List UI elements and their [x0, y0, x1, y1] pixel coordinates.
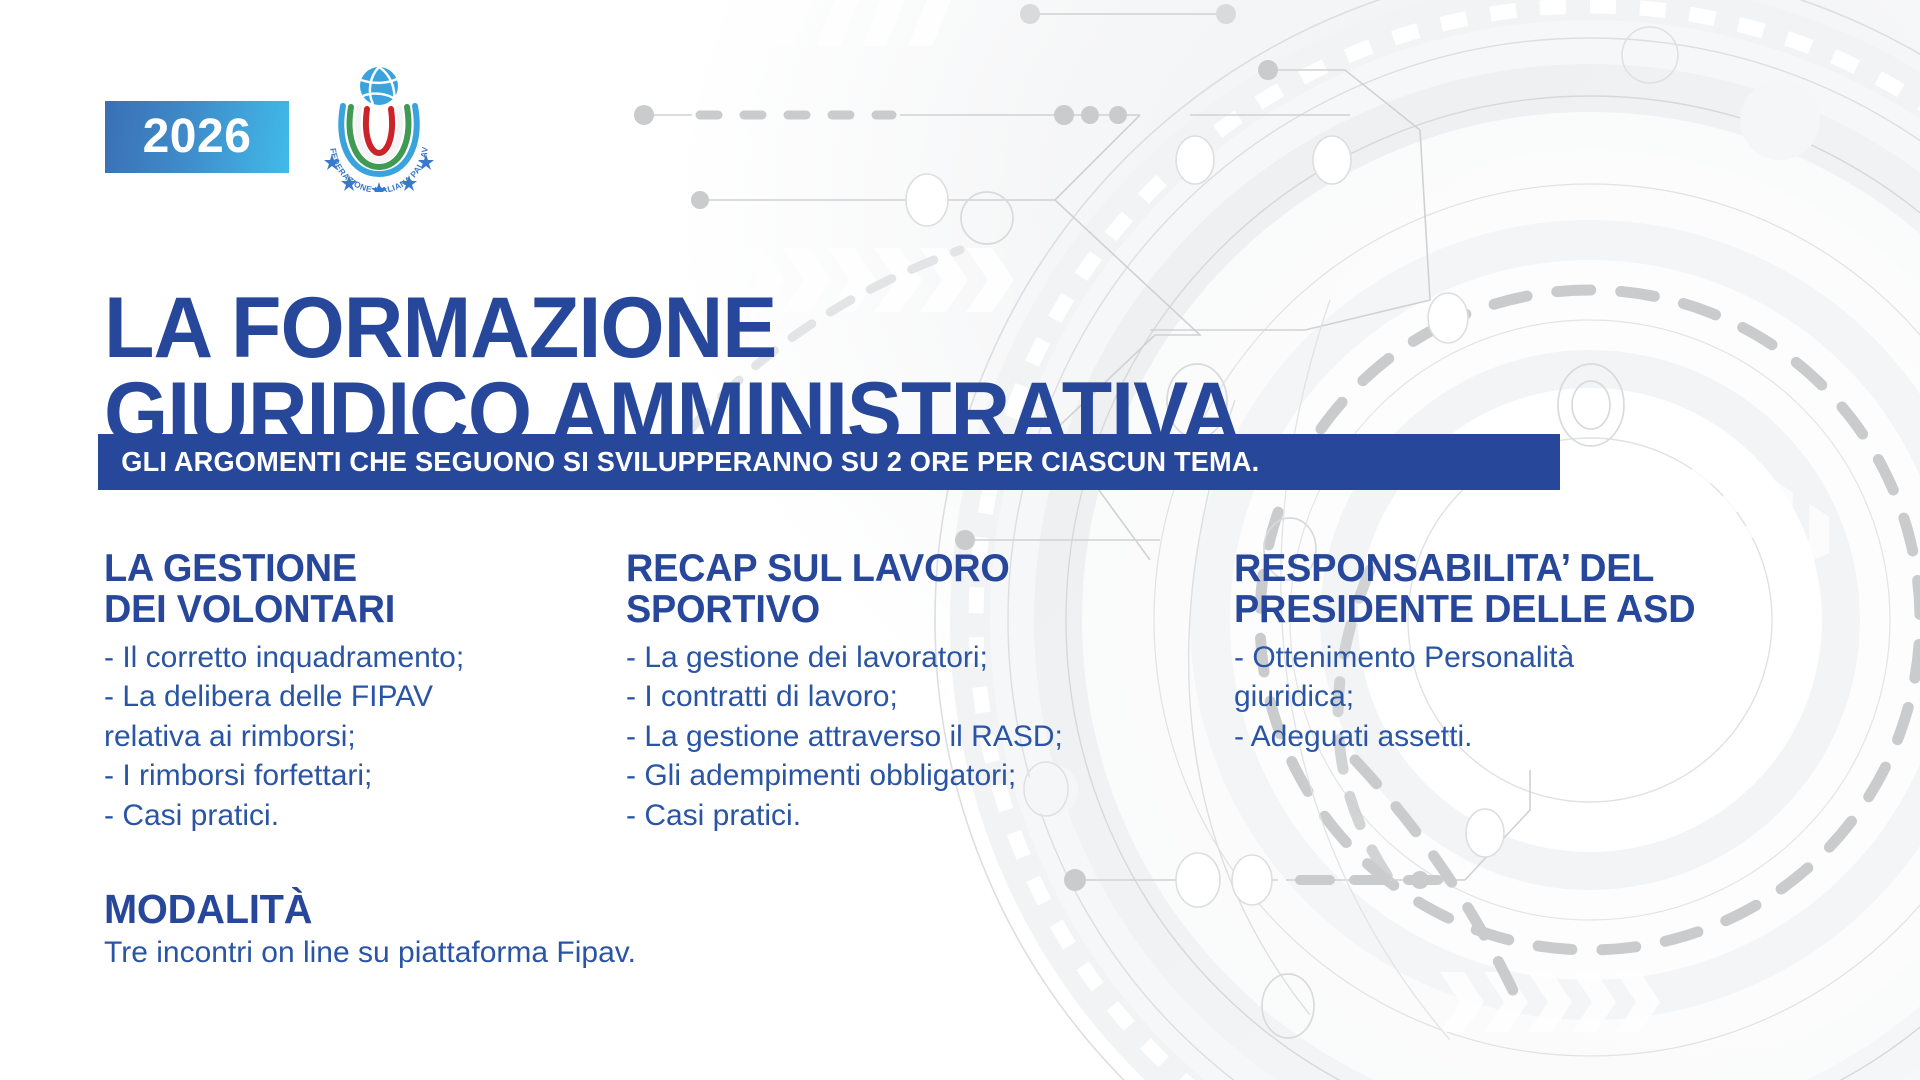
modalita-text: Tre incontri on line su piattaforma Fipa…: [104, 933, 1004, 972]
list-item: - La delibera delle FIPAV relativa ai ri…: [104, 677, 626, 756]
list-item: - I rimborsi forfettari;: [104, 756, 626, 796]
topic-heading: RECAP SUL LAVORO SPORTIVO: [626, 548, 1216, 631]
modalita-section: MODALITÀ Tre incontri on line su piattaf…: [104, 888, 1004, 972]
list-item: - La gestione attraverso il RASD;: [626, 717, 1234, 757]
topic-heading-line-2: PRESIDENTE DELLE ASD: [1234, 589, 1787, 630]
topic-heading-line-1: RECAP SUL LAVORO: [626, 548, 1216, 589]
network-dots-light: [1020, 4, 1236, 24]
chevron-pattern-top: [586, 0, 958, 46]
subtitle-banner: GLI ARGOMENTI CHE SEGUONO SI SVILUPPERAN…: [98, 434, 1560, 490]
topic-columns: LA GESTIONE DEI VOLONTARI - Il corretto …: [104, 548, 1804, 836]
topic-column-responsabilita: RESPONSABILITA’ DEL PRESIDENTE DELLE ASD…: [1234, 548, 1804, 836]
list-item: - Casi pratici.: [626, 796, 1234, 836]
page-title-line-1: LA FORMAZIONE: [104, 286, 1544, 371]
modalita-title: MODALITÀ: [104, 888, 977, 931]
subtitle-banner-text: GLI ARGOMENTI CHE SEGUONO SI SVILUPPERAN…: [98, 446, 1259, 478]
topic-column-volontari: LA GESTIONE DEI VOLONTARI - Il corretto …: [104, 548, 626, 836]
topic-list: - Il corretto inquadramento; - La delibe…: [104, 638, 626, 836]
topic-list: - Ottenimento Personalità giuridica; - A…: [1234, 638, 1804, 757]
topic-column-lavoro-sportivo: RECAP SUL LAVORO SPORTIVO - La gestione …: [626, 548, 1234, 836]
list-item: - Adeguati assetti.: [1234, 717, 1804, 757]
list-item: - I contratti di lavoro;: [626, 677, 1234, 717]
chevron-pattern-bottom: [1440, 972, 1660, 1032]
list-item: - Casi pratici.: [104, 796, 626, 836]
slide-root: 2026 FEDERAZION: [0, 0, 1920, 1080]
fipav-logo: FEDERAZIONE ITALIANA PALLAVOLO: [318, 62, 440, 192]
list-item: - Gli adempimenti obbligatori;: [626, 756, 1234, 796]
volleyball-icon: [360, 67, 398, 105]
list-item: - Il corretto inquadramento;: [104, 638, 626, 678]
year-badge-label: 2026: [143, 113, 252, 161]
horseshoe-bands: [341, 106, 416, 174]
topic-heading-line-2: DEI VOLONTARI: [104, 589, 610, 630]
year-badge: 2026: [105, 101, 289, 173]
page-title: LA FORMAZIONE GIURIDICO AMMINISTRATIVA: [104, 286, 1544, 456]
topic-heading-line-1: LA GESTIONE: [104, 548, 610, 589]
topic-heading: LA GESTIONE DEI VOLONTARI: [104, 548, 610, 631]
topic-list: - La gestione dei lavoratori; - I contra…: [626, 638, 1234, 836]
topic-heading-line-1: RESPONSABILITA’ DEL: [1234, 548, 1787, 589]
topic-heading: RESPONSABILITA’ DEL PRESIDENTE DELLE ASD: [1234, 548, 1787, 631]
topic-heading-line-2: SPORTIVO: [626, 589, 1216, 630]
list-item: - La gestione dei lavoratori;: [626, 638, 1234, 678]
list-item: - Ottenimento Personalità giuridica;: [1234, 638, 1804, 717]
